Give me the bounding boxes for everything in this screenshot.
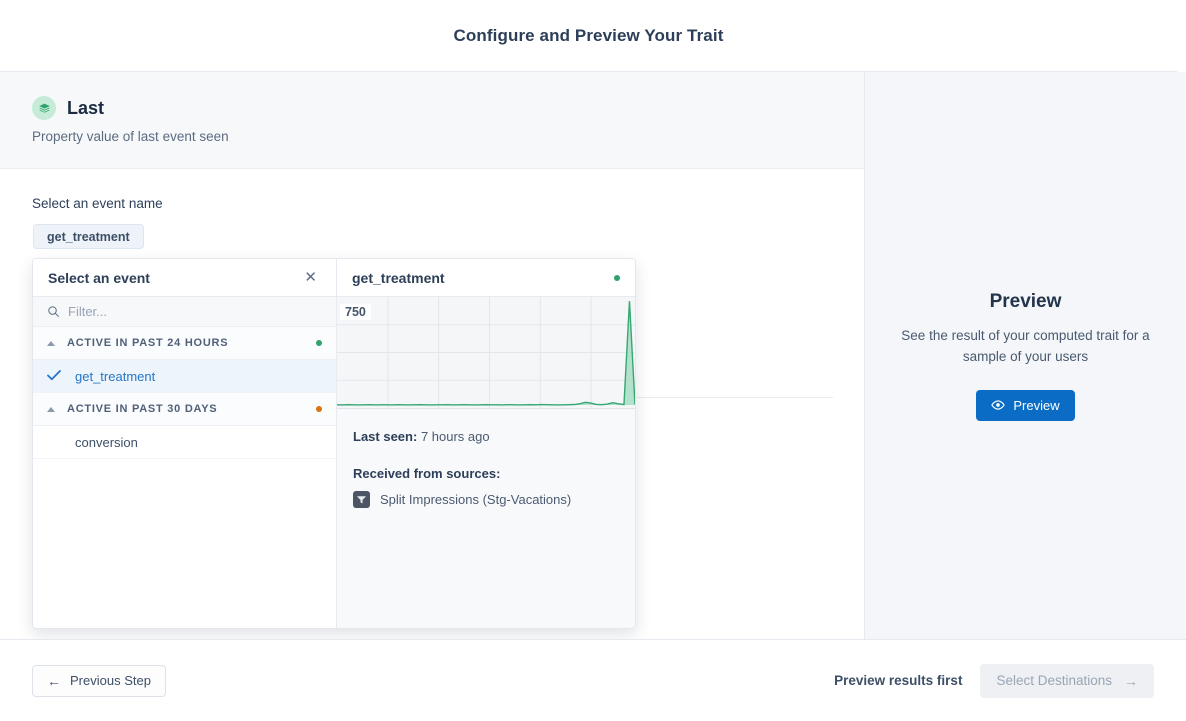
last-seen-value: 7 hours ago: [421, 429, 490, 444]
detail-body: Last seen: 7 hours ago Received from sou…: [337, 409, 635, 628]
split-source-icon: [353, 491, 370, 508]
footer-bar: ← Previous Step Preview results first Se…: [0, 639, 1186, 721]
detail-header: get_treatment: [337, 259, 635, 297]
check-icon: [47, 369, 63, 384]
event-option-label: conversion: [75, 435, 138, 450]
event-list-pane: Select an event ✕ ACTIVE IN PAST: [33, 259, 337, 628]
last-seen-row: Last seen: 7 hours ago: [353, 429, 619, 444]
page-title: Configure and Preview Your Trait: [454, 26, 724, 46]
select-destinations-button[interactable]: Select Destinations →: [980, 664, 1154, 698]
event-volume-chart: 750: [337, 297, 635, 409]
group-status-dot: [316, 340, 322, 346]
group-label: ACTIVE IN PAST 30 DAYS: [67, 403, 316, 415]
arrow-right-icon: →: [1124, 674, 1138, 688]
eye-icon: [991, 398, 1005, 413]
arrow-left-icon: ←: [47, 674, 61, 688]
previous-step-button[interactable]: ← Previous Step: [32, 665, 166, 697]
footer-right-group: Preview results first Select Destination…: [834, 664, 1154, 698]
preview-title: Preview: [990, 291, 1062, 313]
event-option-get-treatment[interactable]: get_treatment: [33, 360, 336, 393]
last-seen-label: Last seen:: [353, 429, 417, 444]
chart-y-tick-label: 750: [340, 304, 371, 320]
app-root: Configure and Preview Your Trait ⚡ Realt…: [0, 0, 1186, 721]
event-field-label: Select an event name: [32, 196, 163, 211]
chevron-up-icon: [47, 407, 55, 412]
source-item: Split Impressions (Stg-Vacations): [353, 491, 619, 508]
group-label: ACTIVE IN PAST 24 HOURS: [67, 337, 316, 349]
select-destinations-label: Select Destinations: [996, 673, 1112, 688]
preview-button-label: Preview: [1013, 398, 1059, 413]
filter-row: [33, 297, 336, 327]
close-icon[interactable]: ✕: [300, 268, 321, 287]
chevron-up-icon: [47, 341, 55, 346]
popover-title: Select an event: [48, 270, 150, 286]
preview-button[interactable]: Preview: [976, 390, 1074, 421]
main-column: Last Property value of last event seen S…: [0, 72, 864, 639]
filter-input[interactable]: [68, 304, 322, 319]
previous-step-label: Previous Step: [70, 673, 151, 688]
event-selector-popover: Select an event ✕ ACTIVE IN PAST: [32, 258, 636, 629]
footer-note: Preview results first: [834, 673, 962, 688]
popover-header: Select an event ✕: [33, 259, 336, 297]
search-icon: [47, 305, 60, 318]
layers-icon: [32, 96, 56, 120]
group-header-active-24h[interactable]: ACTIVE IN PAST 24 HOURS: [33, 327, 336, 360]
top-bar: Configure and Preview Your Trait: [0, 0, 1177, 72]
trait-description: Property value of last event seen: [32, 129, 864, 144]
detail-title: get_treatment: [352, 270, 445, 286]
event-detail-pane: get_treatment 750 Last seen: 7 hours ago: [337, 259, 635, 628]
selected-event-chip[interactable]: get_treatment: [33, 224, 144, 249]
event-option-conversion[interactable]: conversion: [33, 426, 336, 459]
trait-name: Last: [67, 98, 104, 119]
trait-header: Last Property value of last event seen: [0, 72, 864, 169]
group-header-active-30d[interactable]: ACTIVE IN PAST 30 DAYS: [33, 393, 336, 426]
source-name: Split Impressions (Stg-Vacations): [380, 492, 571, 507]
group-status-dot: [316, 406, 322, 412]
sources-label: Received from sources:: [353, 466, 619, 481]
detail-status-dot: [614, 275, 620, 281]
preview-panel: Preview See the result of your computed …: [864, 72, 1186, 639]
baseline-rule: [637, 397, 833, 398]
event-option-label: get_treatment: [75, 369, 155, 384]
chart-svg: [337, 297, 635, 408]
trait-title-row: Last: [32, 96, 864, 120]
preview-description: See the result of your computed trait fo…: [901, 325, 1151, 367]
